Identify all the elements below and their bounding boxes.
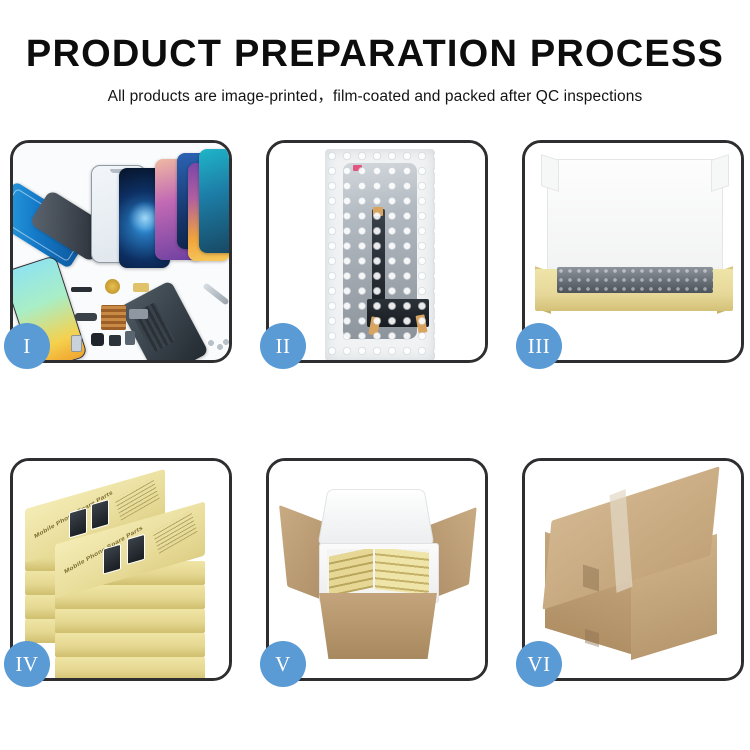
battery-connector-part <box>125 331 135 345</box>
step-4-image: Mobile Phone Spare Parts Mobile Phone Sp… <box>13 461 229 678</box>
flex-cable-dark-part <box>75 313 97 321</box>
retail-box-stack: Mobile Phone Spare Parts Mobile Phone Sp… <box>13 461 229 678</box>
camera-module-part <box>91 333 104 346</box>
retail-box-phone-image <box>91 499 109 530</box>
inner-box-lid <box>547 159 723 283</box>
chip-grid-part <box>101 305 126 330</box>
process-step-1: I <box>10 140 232 363</box>
retail-box <box>55 633 205 657</box>
page-subtitle: All products are image-printed，film-coat… <box>0 75 750 106</box>
retail-box-spec-lines <box>114 477 159 520</box>
process-steps-grid: I II III <box>10 140 745 688</box>
flex-cable-gold-part <box>133 283 149 292</box>
step-2-image <box>269 143 485 360</box>
step-badge-5: V <box>260 641 306 687</box>
retail-box-spec-lines <box>152 510 197 553</box>
step-badge-6: VI <box>516 641 562 687</box>
coil-part <box>105 279 120 294</box>
retail-box <box>55 609 205 633</box>
process-step-4: Mobile Phone Spare Parts Mobile Phone Sp… <box>10 458 232 681</box>
step-3-image <box>525 143 741 360</box>
speaker-module-part <box>109 335 121 346</box>
foam-lid <box>318 489 435 546</box>
step-badge-1: I <box>4 323 50 369</box>
retail-box <box>55 657 205 678</box>
page-title: PRODUCT PREPARATION PROCESS <box>0 0 750 75</box>
process-step-2: II <box>266 140 488 363</box>
packed-boxes-group-right <box>375 549 429 593</box>
step-badge-4: IV <box>4 641 50 687</box>
foam-cavity <box>327 549 429 593</box>
screws-part <box>207 339 229 351</box>
retail-box-phone-image <box>103 544 121 575</box>
carton-flap-seam-lower <box>585 629 599 647</box>
carton-flap-seam-upper <box>583 565 599 592</box>
speaker-bar-part <box>71 287 92 292</box>
retail-box-phone-image <box>127 534 145 565</box>
retail-box-phone-image <box>69 507 87 538</box>
step-1-image <box>13 143 229 360</box>
phone-display-teal <box>199 149 229 253</box>
inner-box-lid-flap-right <box>711 154 729 192</box>
carton-body <box>319 593 437 659</box>
process-step-3: III <box>522 140 744 363</box>
step-6-image <box>525 461 741 678</box>
packed-boxes-group-left <box>329 549 373 593</box>
header: PRODUCT PREPARATION PROCESS All products… <box>0 0 750 106</box>
sim-tray-part <box>71 335 82 352</box>
phone-back-housing <box>119 280 209 360</box>
bubble-wrapped-contents <box>557 267 713 293</box>
flex-cable-grey-part <box>129 309 148 319</box>
step-5-image <box>269 461 485 678</box>
tweezers-tool <box>202 282 229 305</box>
bubble-texture <box>325 149 435 360</box>
bubble-wrap-package <box>325 149 435 360</box>
process-step-6: VI <box>522 458 744 681</box>
inner-box-lid-flap-left <box>541 154 559 192</box>
process-step-5: V <box>266 458 488 681</box>
step-badge-3: III <box>516 323 562 369</box>
step-badge-2: II <box>260 323 306 369</box>
